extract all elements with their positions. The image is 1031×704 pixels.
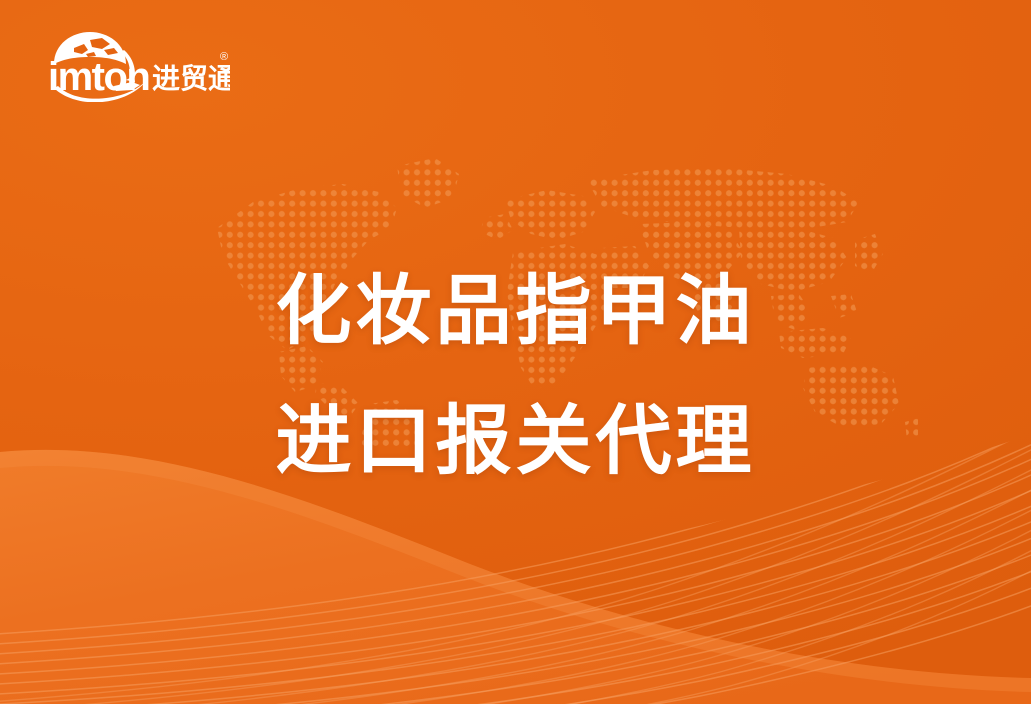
registered-trademark-icon: ® <box>220 51 228 63</box>
logo-chinese-name: 进贸通 <box>152 63 230 94</box>
headline-block: 化妆品指甲油 进口报关代理 <box>0 258 1031 496</box>
brand-logo[interactable]: imton 进贸通 ® <box>40 30 230 102</box>
background-fill <box>0 0 1031 704</box>
bottom-wave-decoration <box>0 374 1031 704</box>
headline-line-2: 进口报关代理 <box>0 388 1031 496</box>
logo-wordmark: imton <box>48 55 149 99</box>
headline-line-1: 化妆品指甲油 <box>0 258 1031 366</box>
dotted-world-map <box>183 136 918 446</box>
promo-banner: imton 进贸通 ® 化妆品指甲油 进口报关代理 <box>0 0 1031 704</box>
